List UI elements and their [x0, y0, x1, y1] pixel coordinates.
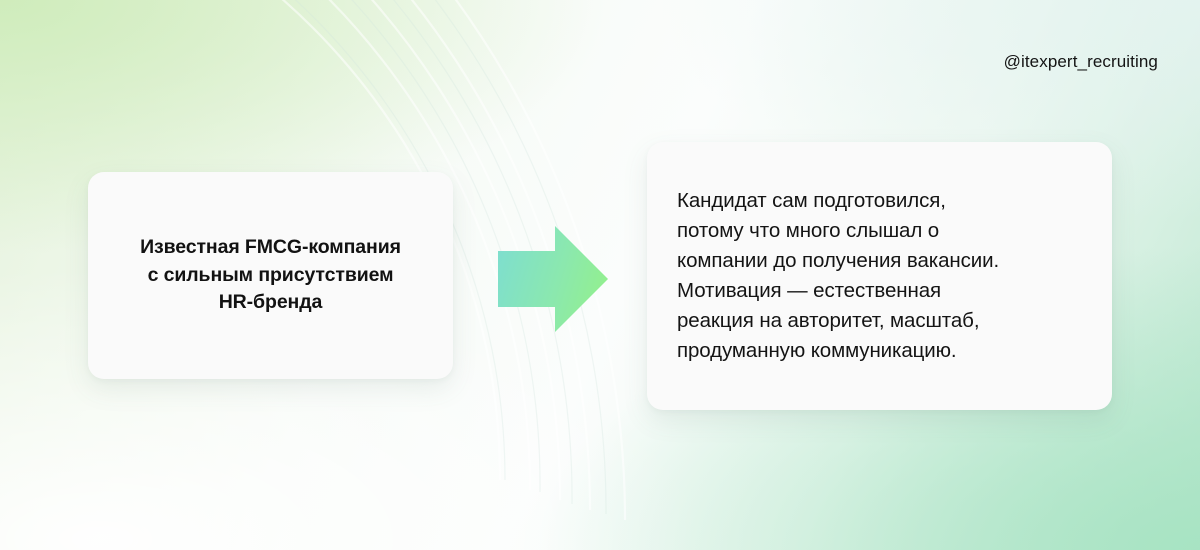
arrow-right-icon: [498, 226, 608, 332]
infographic-canvas: @itexpert_recruiting Известная FMCG-комп…: [0, 0, 1200, 550]
company-profile-card-text: Известная FMCG-компания с сильным присут…: [140, 234, 401, 317]
candidate-outcome-card: Кандидат сам подготовился, потому что мн…: [647, 142, 1112, 410]
company-profile-card: Известная FMCG-компания с сильным присут…: [88, 172, 453, 379]
channel-handle: @itexpert_recruiting: [1004, 52, 1158, 72]
candidate-outcome-card-text: Кандидат сам подготовился, потому что мн…: [677, 186, 999, 366]
